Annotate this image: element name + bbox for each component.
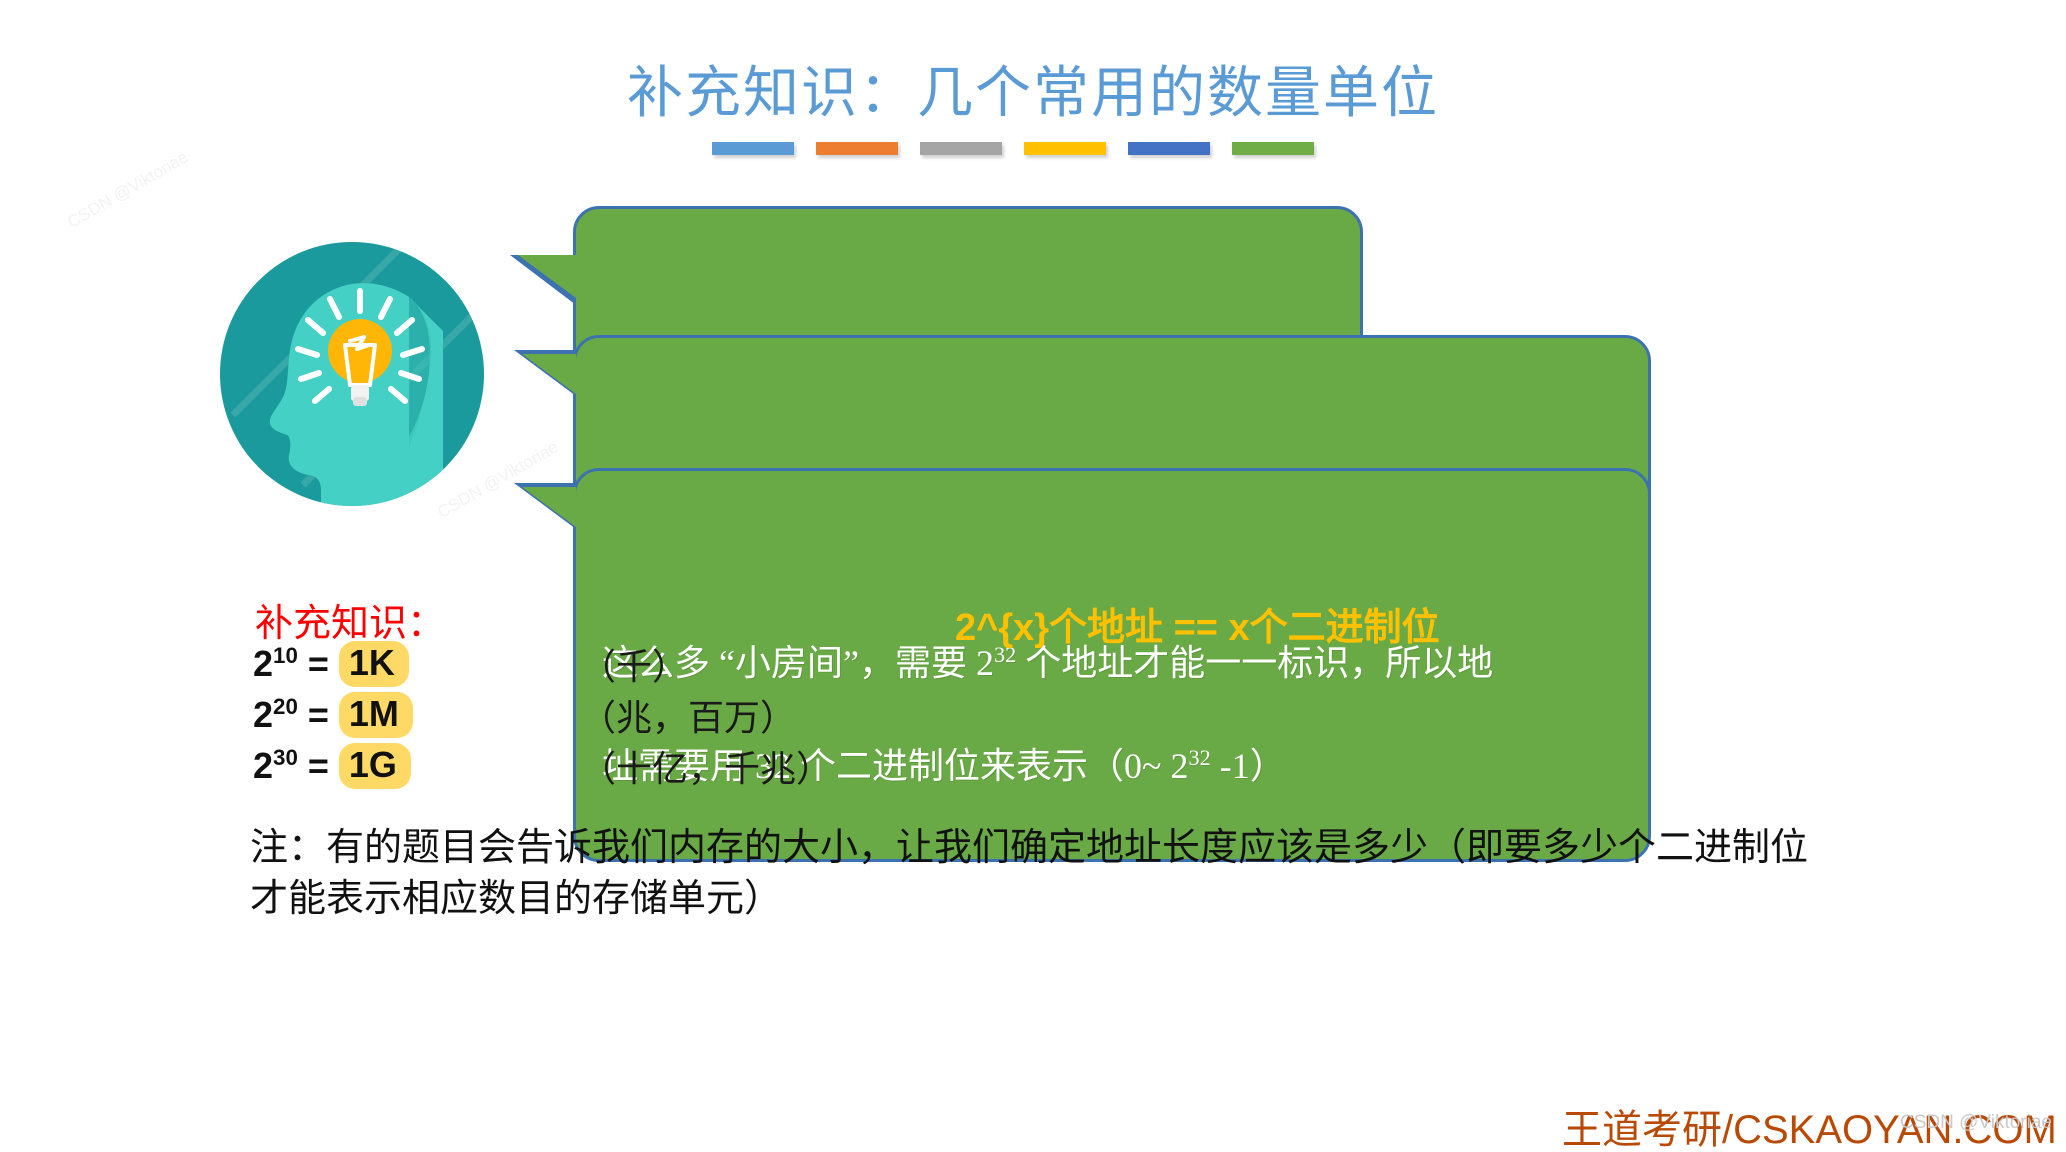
bubble-tail-fill-icon [522,354,576,394]
bubble-tail-icon [514,350,576,396]
footnote-text: 注：有的题目会告诉我们内存的大小，让我们确定地址长度应该是多少（即要多少个二进制… [250,823,1810,926]
bubble-tail-icon [514,483,576,529]
slide-canvas: CSDN @Viktoriae CSDN @Viktoriae CSDN @Vi… [0,0,2066,1152]
power-row: 210 = 1K [253,638,413,689]
exponent-32: 32 [1188,745,1210,770]
power-value-highlight: 1M [339,692,413,738]
head-with-lightbulb-icon [213,235,491,513]
unit-meaning: （千） [580,638,832,689]
power-value-highlight: 1K [339,641,409,687]
power-of-two-list: 210 = 1K 220 = 1M 230 = 1G [253,638,413,791]
bar-orange [816,142,898,155]
power-row: 230 = 1G [253,740,413,791]
exponent: 10 [273,643,298,668]
power-expression: 230 = [253,745,329,787]
exponent: 20 [273,694,298,719]
address-bits-formula: 2^{x}个地址 == x个二进制位 [955,596,1440,651]
bubble-tail-fill-icon [518,255,576,298]
page-title: 补充知识：几个常用的数量单位 [0,48,2066,129]
bar-blue [1128,142,1210,155]
unit-meaning-list: （千） （兆，百万） （十亿，千兆） [580,638,832,791]
bar-light-blue [712,142,794,155]
accent-bar-group [712,142,1314,155]
bar-green [1232,142,1314,155]
power-row: 220 = 1M [253,689,413,740]
power-expression: 210 = [253,643,329,685]
background-watermark: CSDN @Viktoriae [64,147,192,232]
csdn-watermark: CSDN @Viktoriae [1900,1112,2052,1134]
exponent: 30 [273,745,298,770]
bar-gold [1024,142,1106,155]
unit-meaning: （兆，百万） [580,689,832,740]
power-expression: 220 = [253,694,329,736]
unit-meaning: （十亿，千兆） [580,740,832,791]
bar-gray [920,142,1002,155]
bubble-tail-fill-icon [522,487,576,527]
power-value-highlight: 1G [339,743,411,789]
bubble-tail-icon [510,255,576,305]
